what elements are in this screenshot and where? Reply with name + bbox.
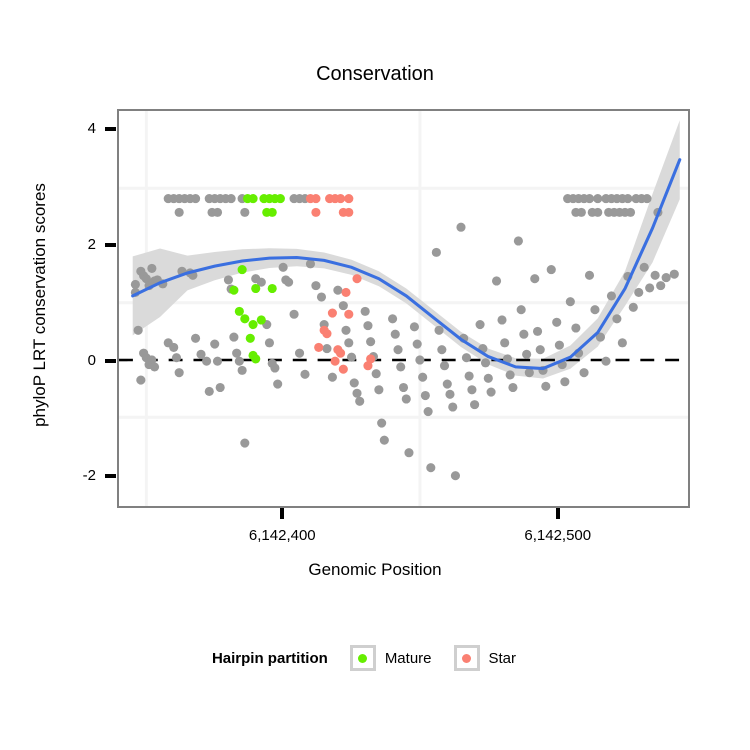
legend-item-star[interactable]: Star — [454, 645, 517, 671]
legend-item-mature[interactable]: Mature — [350, 645, 432, 671]
data-point-unassigned — [432, 248, 441, 257]
significance-marker — [248, 194, 257, 203]
data-point-unassigned — [656, 281, 665, 290]
data-point-unassigned — [322, 344, 331, 353]
y-tick-label: 2 — [56, 236, 96, 253]
data-point-star — [341, 288, 350, 297]
significance-marker — [593, 194, 602, 203]
data-point-unassigned — [235, 357, 244, 366]
y-tick-mark — [105, 243, 116, 247]
data-point-unassigned — [555, 341, 564, 350]
data-point-unassigned — [497, 315, 506, 324]
x-tick-mark — [556, 508, 560, 519]
data-point-unassigned — [205, 387, 214, 396]
chart-canvas: Conservation phyloP LRT conservation sco… — [0, 0, 750, 750]
data-point-unassigned — [402, 394, 411, 403]
significance-marker — [227, 194, 236, 203]
data-point-mature — [229, 286, 238, 295]
data-point-unassigned — [413, 339, 422, 348]
data-point-unassigned — [634, 288, 643, 297]
data-point-unassigned — [172, 353, 181, 362]
y-axis-label: phyloP LRT conservation scores — [30, 95, 50, 515]
data-point-unassigned — [279, 263, 288, 272]
significance-marker — [336, 194, 345, 203]
data-point-unassigned — [424, 407, 433, 416]
data-point-unassigned — [284, 278, 293, 287]
plot-panel — [117, 109, 690, 508]
data-point-unassigned — [670, 270, 679, 279]
data-point-unassigned — [229, 333, 238, 342]
data-point-star — [331, 357, 340, 366]
data-point-unassigned — [317, 292, 326, 301]
y-tick-label: 4 — [56, 120, 96, 137]
data-point-unassigned — [522, 350, 531, 359]
data-point-unassigned — [571, 323, 580, 332]
x-tick-mark — [280, 508, 284, 519]
x-tick-label: 6,142,500 — [488, 527, 628, 544]
data-point-unassigned — [519, 330, 528, 339]
data-point-unassigned — [662, 273, 671, 282]
data-point-unassigned — [134, 326, 143, 335]
data-point-unassigned — [443, 379, 452, 388]
data-point-unassigned — [508, 383, 517, 392]
data-point-unassigned — [363, 321, 372, 330]
data-point-unassigned — [265, 338, 274, 347]
data-point-unassigned — [530, 274, 539, 283]
legend-dot-icon — [462, 654, 471, 663]
data-point-star — [322, 329, 331, 338]
data-point-unassigned — [374, 385, 383, 394]
significance-marker — [344, 208, 353, 217]
data-point-unassigned — [240, 438, 249, 447]
data-point-star — [344, 310, 353, 319]
data-point-unassigned — [361, 307, 370, 316]
data-point-unassigned — [396, 362, 405, 371]
data-point-unassigned — [150, 362, 159, 371]
significance-marker — [268, 208, 277, 217]
x-axis-label: Genomic Position — [0, 560, 750, 580]
data-point-unassigned — [434, 326, 443, 335]
data-point-unassigned — [445, 390, 454, 399]
data-point-unassigned — [333, 286, 342, 295]
data-point-unassigned — [456, 223, 465, 232]
data-point-unassigned — [399, 383, 408, 392]
y-tick-mark — [105, 127, 116, 131]
data-point-unassigned — [393, 345, 402, 354]
data-point-unassigned — [492, 276, 501, 285]
data-point-unassigned — [601, 357, 610, 366]
data-point-unassigned — [131, 280, 140, 289]
data-point-unassigned — [547, 265, 556, 274]
data-point-unassigned — [372, 369, 381, 378]
data-point-unassigned — [629, 303, 638, 312]
data-point-unassigned — [440, 361, 449, 370]
data-point-unassigned — [415, 355, 424, 364]
data-point-unassigned — [216, 383, 225, 392]
data-point-unassigned — [566, 297, 575, 306]
data-point-unassigned — [651, 271, 660, 280]
data-point-unassigned — [232, 349, 241, 358]
data-point-unassigned — [352, 389, 361, 398]
y-tick-label: -2 — [56, 467, 96, 484]
data-point-unassigned — [465, 371, 474, 380]
data-point-unassigned — [295, 349, 304, 358]
data-point-mature — [251, 284, 260, 293]
data-point-unassigned — [388, 314, 397, 323]
data-point-mature — [235, 307, 244, 316]
data-point-unassigned — [210, 339, 219, 348]
significance-marker — [585, 194, 594, 203]
significance-marker — [577, 208, 586, 217]
data-point-star — [339, 365, 348, 374]
data-point-unassigned — [607, 291, 616, 300]
y-tick-mark — [105, 359, 116, 363]
data-point-unassigned — [290, 310, 299, 319]
data-point-mature — [240, 314, 249, 323]
significance-marker — [276, 194, 285, 203]
significance-marker — [626, 208, 635, 217]
data-point-unassigned — [481, 358, 490, 367]
data-point-unassigned — [328, 373, 337, 382]
data-point-unassigned — [347, 353, 356, 362]
data-point-unassigned — [560, 377, 569, 386]
data-point-star — [328, 309, 337, 318]
data-point-unassigned — [467, 385, 476, 394]
data-point-unassigned — [147, 264, 156, 273]
data-point-mature — [248, 320, 257, 329]
significance-marker — [344, 194, 353, 203]
legend-title: Hairpin partition — [212, 650, 328, 667]
data-point-unassigned — [311, 281, 320, 290]
legend-key-swatch — [454, 645, 480, 671]
significance-marker — [311, 194, 320, 203]
legend-dot-icon — [358, 654, 367, 663]
data-point-unassigned — [536, 345, 545, 354]
data-point-unassigned — [366, 337, 375, 346]
data-point-unassigned — [224, 275, 233, 284]
data-point-mature — [268, 284, 277, 293]
significance-marker — [311, 208, 320, 217]
x-tick-label: 6,142,400 — [212, 527, 352, 544]
data-point-unassigned — [404, 448, 413, 457]
data-point-unassigned — [418, 373, 427, 382]
data-point-unassigned — [500, 338, 509, 347]
data-point-unassigned — [191, 334, 200, 343]
data-point-star — [336, 349, 345, 358]
data-point-unassigned — [377, 418, 386, 427]
significance-marker — [593, 208, 602, 217]
data-point-unassigned — [585, 271, 594, 280]
significance-marker — [175, 208, 184, 217]
data-point-unassigned — [640, 263, 649, 272]
data-point-unassigned — [270, 363, 279, 372]
data-point-unassigned — [355, 397, 364, 406]
data-point-unassigned — [391, 330, 400, 339]
data-point-unassigned — [380, 436, 389, 445]
significance-marker — [191, 194, 200, 203]
significance-marker — [240, 208, 249, 217]
data-point-unassigned — [552, 318, 561, 327]
data-point-unassigned — [533, 327, 542, 336]
data-point-unassigned — [213, 357, 222, 366]
data-point-unassigned — [136, 376, 145, 385]
data-point-star — [363, 361, 372, 370]
data-point-star — [352, 274, 361, 283]
data-point-unassigned — [339, 301, 348, 310]
data-point-unassigned — [470, 400, 479, 409]
data-point-unassigned — [273, 379, 282, 388]
data-point-unassigned — [541, 382, 550, 391]
data-point-unassigned — [475, 320, 484, 329]
data-point-unassigned — [579, 368, 588, 377]
data-point-unassigned — [448, 402, 457, 411]
legend-item-label: Star — [489, 650, 517, 667]
data-point-unassigned — [341, 326, 350, 335]
data-point-mature — [251, 354, 260, 363]
data-point-unassigned — [484, 374, 493, 383]
data-point-unassigned — [300, 370, 309, 379]
data-point-unassigned — [350, 378, 359, 387]
data-point-unassigned — [487, 388, 496, 397]
y-tick-mark — [105, 474, 116, 478]
page-title: Conservation — [0, 63, 750, 86]
legend: Hairpin partition MatureStar — [0, 645, 750, 671]
significance-marker — [213, 208, 222, 217]
data-point-unassigned — [421, 391, 430, 400]
data-point-mature — [238, 265, 247, 274]
data-point-unassigned — [169, 343, 178, 352]
plot-surface — [119, 111, 688, 506]
data-point-unassigned — [590, 305, 599, 314]
data-point-unassigned — [437, 345, 446, 354]
data-point-mature — [257, 315, 266, 324]
legend-item-label: Mature — [385, 650, 432, 667]
data-point-unassigned — [517, 305, 526, 314]
data-point-unassigned — [618, 338, 627, 347]
data-point-unassigned — [238, 366, 247, 375]
data-point-unassigned — [175, 368, 184, 377]
data-point-unassigned — [462, 353, 471, 362]
significance-marker — [623, 194, 632, 203]
data-point-unassigned — [451, 471, 460, 480]
data-point-unassigned — [426, 463, 435, 472]
data-point-unassigned — [344, 338, 353, 347]
data-point-unassigned — [202, 357, 211, 366]
data-point-unassigned — [410, 322, 419, 331]
data-point-unassigned — [514, 236, 523, 245]
data-point-unassigned — [645, 283, 654, 292]
data-point-star — [314, 343, 323, 352]
y-tick-label: 0 — [56, 352, 96, 369]
data-point-mature — [246, 334, 255, 343]
data-point-unassigned — [506, 370, 515, 379]
data-point-unassigned — [612, 314, 621, 323]
legend-key-swatch — [350, 645, 376, 671]
significance-marker — [642, 194, 651, 203]
